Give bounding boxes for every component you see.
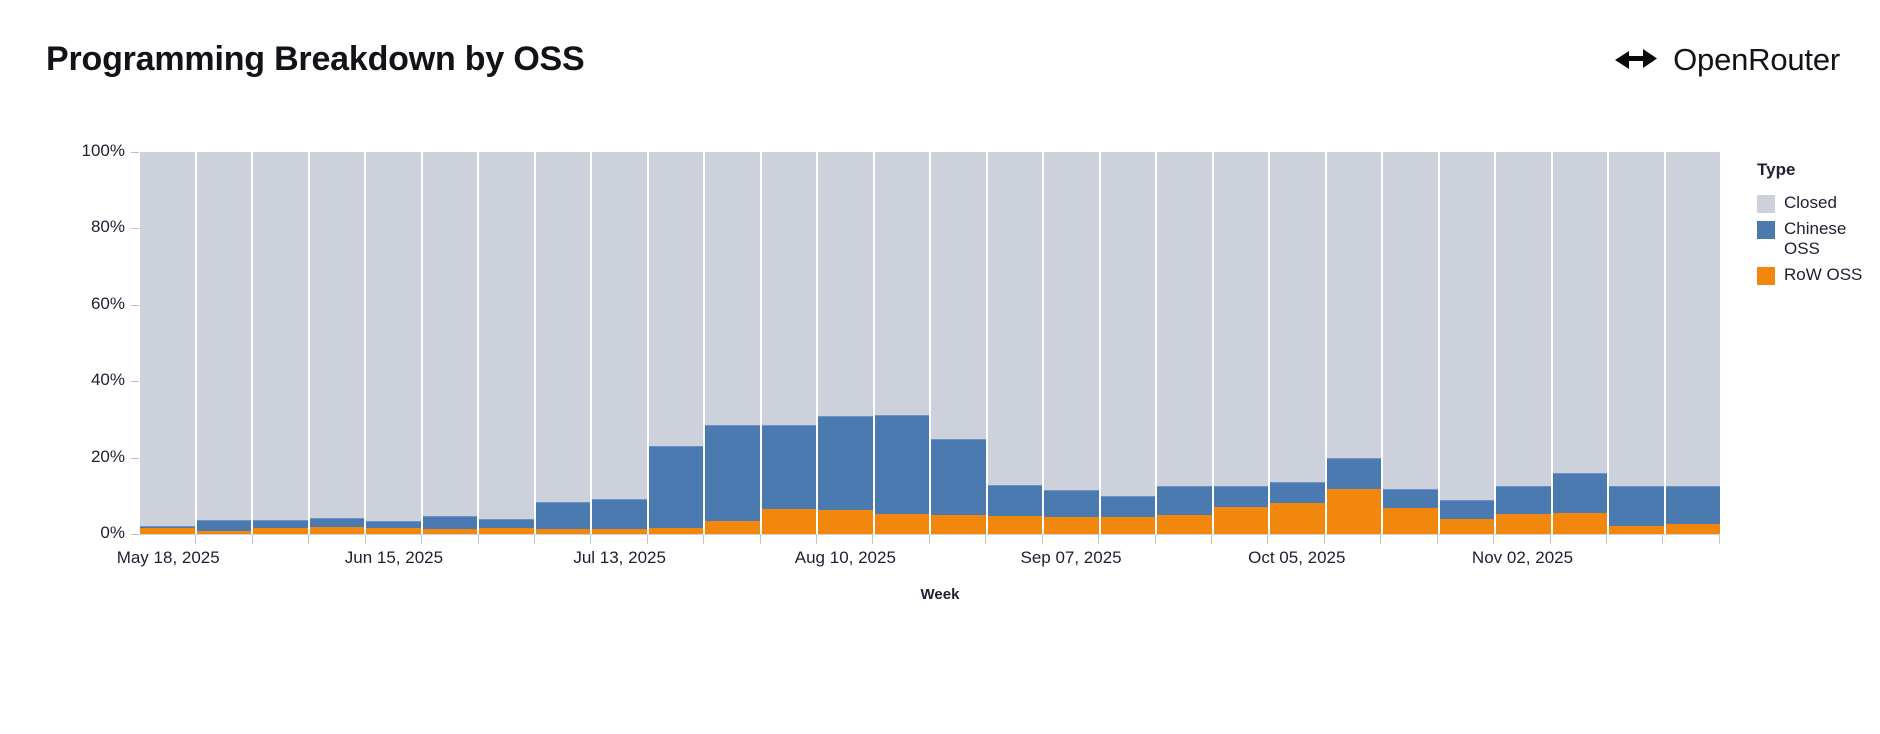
x-tick-mark: [1156, 535, 1212, 544]
bar-segment-closed: [1666, 152, 1721, 486]
bar-segment-chinese-oss: [1383, 489, 1438, 508]
y-tick-label: 20%: [55, 447, 125, 467]
x-tick-label: Oct 05, 2025: [1248, 548, 1345, 568]
x-tick-label: Jul 13, 2025: [573, 548, 666, 568]
y-tick-label: 60%: [55, 294, 125, 314]
bar-column[interactable]: [253, 152, 310, 534]
bar-column[interactable]: [1440, 152, 1497, 534]
bar-segment-row-oss: [1496, 514, 1551, 534]
bar-segment-closed: [1101, 152, 1156, 496]
plot-area: [140, 152, 1720, 534]
chart-header: Programming Breakdown by OSS OpenRouter: [0, 0, 1880, 120]
bar-segment-chinese-oss: [875, 415, 930, 514]
bar-column[interactable]: [536, 152, 593, 534]
x-tick-mark: [986, 535, 1042, 544]
x-tick-mark: [1043, 535, 1099, 544]
bar-segment-row-oss: [1157, 515, 1212, 534]
legend-item-label: Closed: [1784, 193, 1837, 213]
bar-column[interactable]: [1327, 152, 1384, 534]
legend-item[interactable]: RoW OSS: [1757, 265, 1880, 285]
bar-segment-chinese-oss: [1553, 473, 1608, 513]
bar-segment-chinese-oss: [818, 416, 873, 510]
x-tick-mark: [704, 535, 760, 544]
bar-segment-closed: [818, 152, 873, 416]
bar-segment-chinese-oss: [366, 521, 421, 529]
x-tick-mark: [1381, 535, 1437, 544]
bar-segment-row-oss: [1383, 508, 1438, 534]
bar-column[interactable]: [1609, 152, 1666, 534]
x-tick-mark: [1663, 535, 1719, 544]
bar-segment-row-oss: [1044, 517, 1099, 534]
bar-segment-row-oss: [1440, 519, 1495, 534]
bar-segment-row-oss: [1214, 507, 1269, 534]
x-tick-mark: [817, 535, 873, 544]
bar-segment-closed: [705, 152, 760, 425]
bar-segment-closed: [762, 152, 817, 425]
legend-item[interactable]: Closed: [1757, 193, 1880, 213]
bar-segment-closed: [366, 152, 421, 521]
bar-segment-chinese-oss: [1496, 486, 1551, 515]
legend-item-label: RoW OSS: [1784, 265, 1862, 285]
bar-column[interactable]: [705, 152, 762, 534]
bar-column[interactable]: [366, 152, 423, 534]
x-tick-mark: [1438, 535, 1494, 544]
legend-item[interactable]: Chinese OSS: [1757, 219, 1880, 259]
bar-segment-chinese-oss: [1101, 496, 1156, 517]
x-tick-mark: [1494, 535, 1550, 544]
y-axis-title: % Sum of Tokens: [0, 176, 3, 300]
bar-segment-closed: [1214, 152, 1269, 486]
x-tick-mark: [535, 535, 591, 544]
x-tick-mark: [366, 535, 422, 544]
bar-segment-closed: [253, 152, 308, 519]
x-tick-mark: [648, 535, 704, 544]
bar-segment-closed: [875, 152, 930, 415]
bar-segment-row-oss: [310, 527, 365, 534]
x-tick-mark: [1325, 535, 1381, 544]
legend-swatch-icon: [1757, 267, 1775, 285]
x-tick-mark: [253, 535, 309, 544]
brand-logo: OpenRouter: [1613, 40, 1840, 80]
bar-segment-chinese-oss: [1044, 490, 1099, 517]
bar-segment-chinese-oss: [931, 439, 986, 515]
x-tick-mark: [479, 535, 535, 544]
openrouter-arrow-icon: [1613, 40, 1659, 80]
x-tick-label: May 18, 2025: [117, 548, 220, 568]
bar-column[interactable]: [1270, 152, 1327, 534]
bar-segment-closed: [479, 152, 534, 519]
bar-segment-chinese-oss: [592, 499, 647, 530]
x-tick-mark: [1212, 535, 1268, 544]
y-tick-mark: [131, 228, 139, 229]
bar-segment-closed: [1044, 152, 1099, 490]
x-tick-label: Aug 10, 2025: [795, 548, 896, 568]
bar-segment-chinese-oss: [1440, 500, 1495, 519]
bar-segment-closed: [1383, 152, 1438, 489]
y-tick-label: 0%: [55, 523, 125, 543]
bar-segment-chinese-oss: [197, 520, 252, 531]
bar-segment-closed: [1553, 152, 1608, 473]
x-axis-title: Week: [0, 586, 1880, 603]
bar-segment-row-oss: [1327, 489, 1382, 534]
bar-segment-closed: [197, 152, 252, 519]
y-tick-label: 100%: [55, 141, 125, 161]
legend-item-label: Chinese OSS: [1784, 219, 1880, 259]
legend-title: Type: [1757, 160, 1880, 180]
bar-column[interactable]: [988, 152, 1045, 534]
bar-segment-closed: [536, 152, 591, 502]
x-tick-mark: [140, 535, 196, 544]
bar-column[interactable]: [1157, 152, 1214, 534]
bar-column[interactable]: [818, 152, 875, 534]
bar-column[interactable]: [1666, 152, 1721, 534]
x-tick-mark: [422, 535, 478, 544]
bar-segment-closed: [1327, 152, 1382, 458]
bar-series-container: [140, 152, 1720, 534]
bar-segment-chinese-oss: [310, 518, 365, 527]
bar-segment-closed: [423, 152, 478, 516]
bar-column[interactable]: [592, 152, 649, 534]
bar-column[interactable]: [649, 152, 706, 534]
bar-segment-row-oss: [1101, 517, 1156, 534]
bar-segment-closed: [649, 152, 704, 446]
bar-segment-row-oss: [818, 510, 873, 534]
bar-segment-chinese-oss: [423, 516, 478, 529]
legend: Type ClosedChinese OSSRoW OSS: [1757, 160, 1880, 291]
legend-swatch-icon: [1757, 221, 1775, 239]
bar-segment-closed: [1270, 152, 1325, 482]
x-tick-mark: [196, 535, 252, 544]
bar-column[interactable]: [1044, 152, 1101, 534]
legend-swatch-icon: [1757, 195, 1775, 213]
bar-segment-row-oss: [1270, 503, 1325, 534]
x-tick-mark: [1099, 535, 1155, 544]
bar-segment-closed: [931, 152, 986, 439]
bar-segment-chinese-oss: [536, 502, 591, 529]
bar-column[interactable]: [1214, 152, 1271, 534]
bar-column[interactable]: [1383, 152, 1440, 534]
bar-segment-chinese-oss: [762, 425, 817, 509]
x-tick-mark: [1607, 535, 1663, 544]
bar-segment-closed: [1440, 152, 1495, 500]
bar-column[interactable]: [423, 152, 480, 534]
legend-items: ClosedChinese OSSRoW OSS: [1757, 193, 1880, 285]
bar-segment-closed: [1157, 152, 1212, 486]
x-tick-mark: [873, 535, 929, 544]
brand-name: OpenRouter: [1673, 42, 1840, 78]
bar-segment-chinese-oss: [1157, 486, 1212, 515]
bar-segment-closed: [1496, 152, 1551, 485]
bar-segment-closed: [140, 152, 195, 526]
bar-column[interactable]: [197, 152, 254, 534]
y-tick-label: 80%: [55, 217, 125, 237]
x-tick-mark: [309, 535, 365, 544]
bar-segment-chinese-oss: [253, 520, 308, 529]
bar-segment-chinese-oss: [1270, 482, 1325, 503]
bar-segment-chinese-oss: [705, 425, 760, 521]
x-tick-label: Jun 15, 2025: [345, 548, 443, 568]
bar-segment-chinese-oss: [1609, 486, 1664, 526]
x-tick-mark: [1268, 535, 1324, 544]
y-tick-label: 40%: [55, 370, 125, 390]
bar-segment-row-oss: [705, 521, 760, 534]
y-tick-mark: [131, 305, 139, 306]
bar-column[interactable]: [1496, 152, 1553, 534]
x-tick-mark: [591, 535, 647, 544]
y-tick-mark: [131, 534, 139, 535]
x-tick-marks: [140, 535, 1720, 544]
x-tick-labels: May 18, 2025Jun 15, 2025Jul 13, 2025Aug …: [140, 548, 1720, 572]
bar-segment-closed: [592, 152, 647, 499]
x-tick-mark: [930, 535, 986, 544]
bar-segment-row-oss: [931, 515, 986, 534]
bar-segment-row-oss: [875, 514, 930, 534]
bar-segment-row-oss: [1609, 526, 1664, 534]
y-tick-mark: [131, 381, 139, 382]
bar-segment-chinese-oss: [479, 519, 534, 529]
x-tick-mark: [1551, 535, 1607, 544]
bar-column[interactable]: [875, 152, 932, 534]
bar-segment-row-oss: [988, 516, 1043, 534]
bar-segment-chinese-oss: [988, 485, 1043, 516]
bar-segment-chinese-oss: [1327, 458, 1382, 489]
bar-segment-closed: [988, 152, 1043, 485]
x-tick-mark: [761, 535, 817, 544]
bar-segment-row-oss: [1553, 513, 1608, 534]
bar-column[interactable]: [762, 152, 819, 534]
bar-segment-closed: [310, 152, 365, 518]
bar-segment-row-oss: [762, 509, 817, 534]
bar-segment-chinese-oss: [1214, 486, 1269, 507]
bar-column[interactable]: [140, 152, 197, 534]
bar-column[interactable]: [1101, 152, 1158, 534]
bar-column[interactable]: [1553, 152, 1610, 534]
x-tick-label: Sep 07, 2025: [1020, 548, 1121, 568]
bar-column[interactable]: [310, 152, 367, 534]
y-tick-mark: [131, 458, 139, 459]
x-tick-label: Nov 02, 2025: [1472, 548, 1573, 568]
y-tick-mark: [131, 152, 139, 153]
bar-segment-closed: [1609, 152, 1664, 486]
bar-segment-chinese-oss: [649, 446, 704, 528]
bar-column[interactable]: [931, 152, 988, 534]
page-title: Programming Breakdown by OSS: [46, 40, 585, 79]
bar-segment-chinese-oss: [1666, 486, 1721, 524]
bar-column[interactable]: [479, 152, 536, 534]
bar-segment-row-oss: [1666, 524, 1721, 534]
